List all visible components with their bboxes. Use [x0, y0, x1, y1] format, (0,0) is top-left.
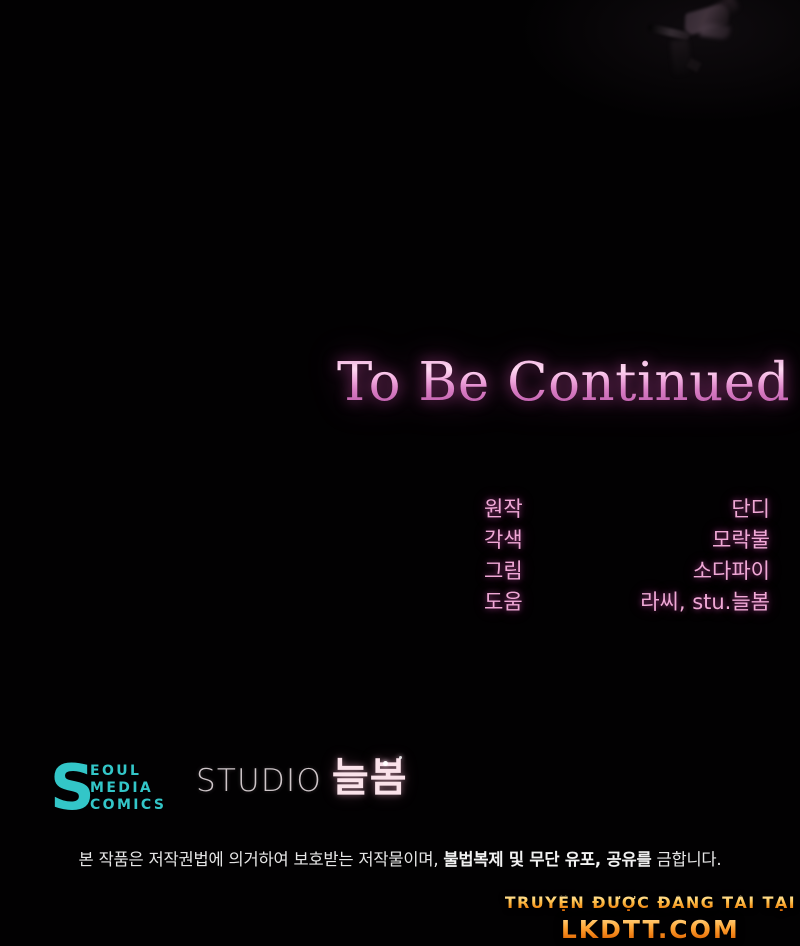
credit-row: 원작 단디	[484, 494, 770, 525]
artwork-shape-1	[684, 1, 729, 37]
artwork-shape-4	[670, 39, 691, 75]
comic-end-page: To Be Continued 원작 단디 각색 모락불 그림 소다파이 도움 …	[0, 0, 800, 946]
artwork-shape-5	[686, 58, 701, 72]
seoul-media-line-3: COMICS	[90, 797, 166, 813]
seoul-media-comics-logo: S EOUL MEDIA COMICS	[50, 756, 174, 820]
credit-value-original: 단디	[731, 494, 770, 525]
artwork-shape-6	[710, 0, 741, 22]
studio-wordmark: STUDIO	[196, 759, 322, 803]
publisher-logos: S EOUL MEDIA COMICS STUDIO 늘봄	[50, 752, 408, 824]
watermark-tagline: TRUYỆN ĐƯỢC ĐĂNG TẢI TẠI	[505, 895, 796, 911]
credit-row: 도움 라씨, stu.늘봄	[484, 587, 770, 618]
artwork-vignette	[0, 0, 800, 180]
credit-label-original: 원작	[484, 494, 523, 525]
residual-artwork	[0, 0, 800, 180]
credit-row: 각색 모락불	[484, 525, 770, 556]
credit-row: 그림 소다파이	[484, 556, 770, 587]
copyright-part-1: 본 작품은 저작권법에 의거하여 보호받는 저작물이며,	[79, 850, 444, 869]
sparkle-dot-icon	[383, 761, 388, 766]
credit-label-assist: 도움	[484, 587, 523, 618]
artwork-shape-2	[699, 22, 731, 40]
credit-label-art: 그림	[484, 556, 523, 587]
site-watermark: TRUYỆN ĐƯỢC ĐĂNG TẢI TẠI LKDTT.COM	[505, 895, 796, 942]
credit-value-art: 소다파이	[693, 556, 770, 587]
to-be-continued-title: To Be Continued	[0, 352, 790, 413]
copyright-emphasis: 불법복제 및 무단 유포, 공유를	[443, 850, 651, 869]
credits-list: 원작 단디 각색 모락불 그림 소다파이 도움 라씨, stu.늘봄	[484, 494, 770, 618]
studio-neulbom-logo: STUDIO 늘봄	[196, 756, 408, 820]
credit-value-adaptation: 모락불	[712, 525, 770, 556]
neulbom-wordmark: 늘봄	[332, 756, 408, 800]
seoul-media-wordmark: EOUL MEDIA COMICS	[90, 763, 166, 813]
watermark-domain: LKDTT.COM	[505, 917, 796, 942]
seoul-media-line-2: MEDIA	[90, 780, 166, 796]
sparkle-small-icon	[399, 756, 402, 759]
seoul-media-s-monogram-icon: S	[50, 758, 95, 818]
copyright-notice: 본 작품은 저작권법에 의거하여 보호받는 저작물이며, 불법복제 및 무단 유…	[0, 846, 800, 870]
copyright-part-2: 금합니다.	[651, 850, 721, 869]
seoul-media-line-1: EOUL	[90, 763, 166, 779]
artwork-shape-3	[648, 23, 691, 40]
credit-label-adaptation: 각색	[484, 525, 523, 556]
credit-value-assist: 라씨, stu.늘봄	[640, 587, 770, 618]
